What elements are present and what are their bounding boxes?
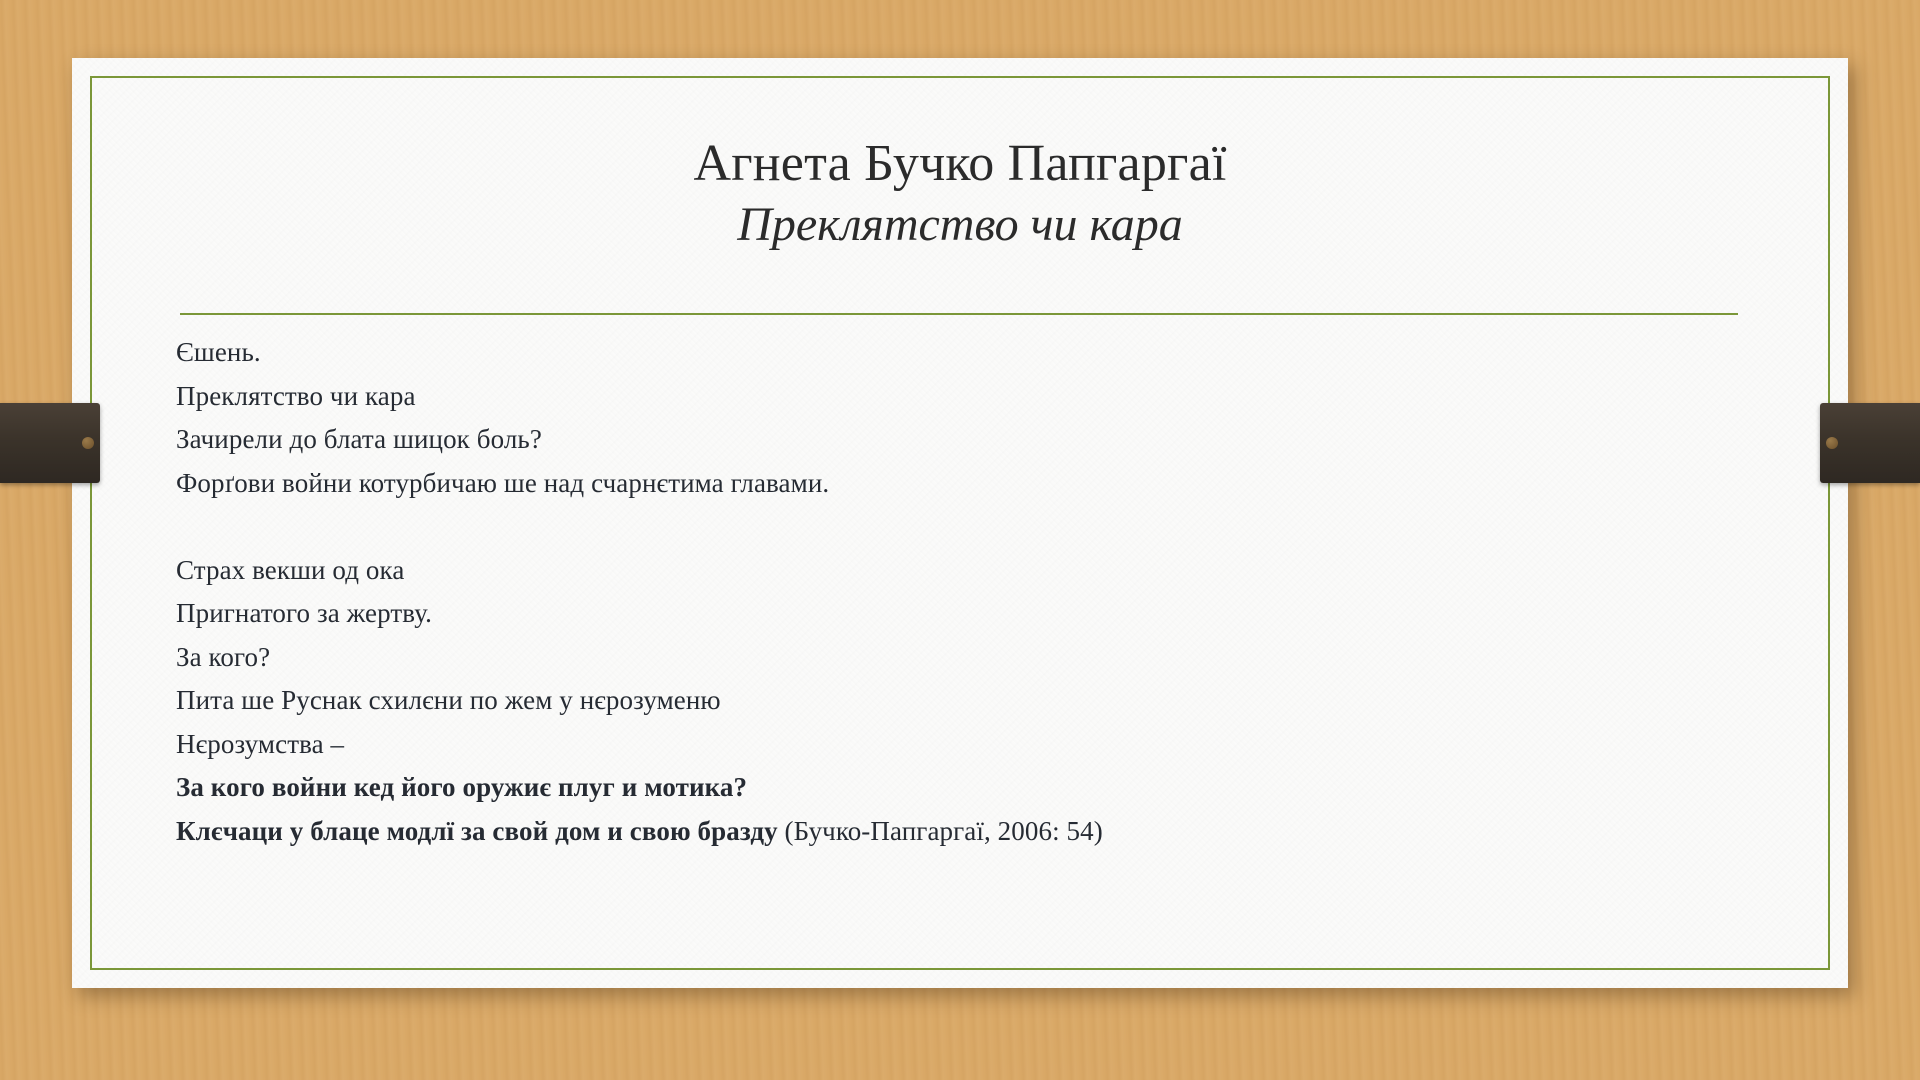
poem-line: Форґови войни котурбичаю ше над счарнєти…: [176, 462, 1768, 506]
poem-line: Єшень.: [176, 331, 1768, 375]
slide-paper-card: Агнета Бучко Папгаргаї Преклятство чи ка…: [72, 58, 1848, 988]
stanza-spacer: [176, 505, 1768, 549]
poem-line: За кого?: [176, 636, 1768, 680]
poem-line: Зачирели до блата шицок боль?: [176, 418, 1768, 462]
poem-line: Нєрозумства –: [176, 723, 1768, 767]
slide-content: Агнета Бучко Папгаргаї Преклятство чи ка…: [72, 58, 1848, 988]
poem-line: Пригнатого за жертву.: [176, 592, 1768, 636]
poem-line-final: Клєчаци у блаце модлї за свой дом и свою…: [176, 810, 1768, 854]
title-divider-rule: [180, 313, 1738, 315]
title-block: Агнета Бучко Папгаргаї Преклятство чи ка…: [172, 136, 1748, 252]
slide-subtitle: Преклятство чи кара: [172, 198, 1748, 252]
poem-line-bold: За кого войни кед його оружиє плуг и мот…: [176, 766, 1768, 810]
poem-line: Пита ше Руснак схилєни по жем у нєрозуме…: [176, 679, 1768, 723]
slide-title: Агнета Бучко Папгаргаї: [172, 136, 1748, 192]
poem-line: Страх векши од ока: [176, 549, 1768, 593]
poem-line: Преклятство чи кара: [176, 375, 1768, 419]
poem-citation: (Бучко-Папгаргаї, 2006: 54): [778, 816, 1103, 846]
poem-final-bold: Клєчаци у блаце модлї за свой дом и свою…: [176, 816, 778, 846]
clip-bar-right: [1820, 403, 1920, 483]
poem-body: Єшень. Преклятство чи кара Зачирели до б…: [176, 331, 1768, 853]
clip-bar-left: [0, 403, 100, 483]
